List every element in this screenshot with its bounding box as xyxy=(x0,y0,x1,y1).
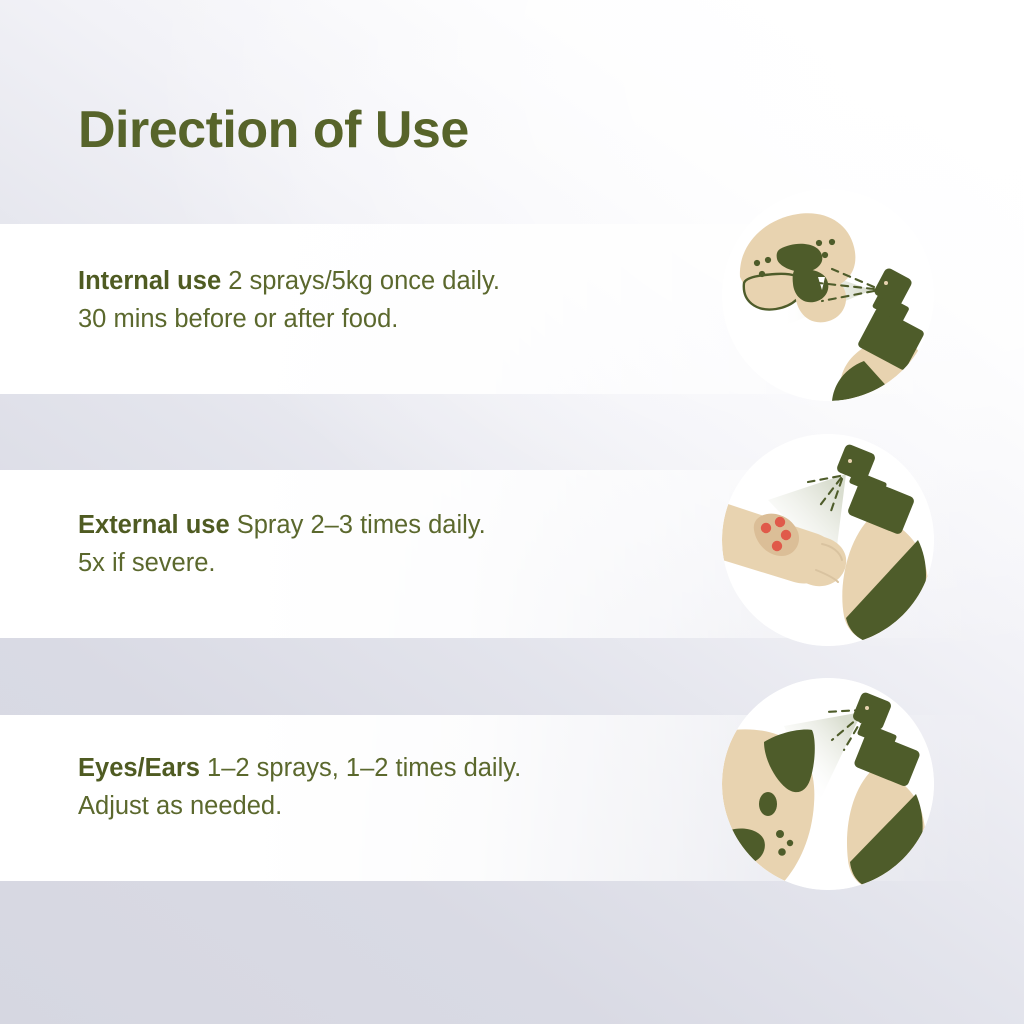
page-title: Direction of Use xyxy=(78,100,469,160)
instruction-line2-3: Adjust as needed. xyxy=(78,787,698,825)
instruction-lead-2: External use xyxy=(78,511,230,539)
instruction-line-3: Eyes/Ears 1–2 sprays, 1–2 times daily. xyxy=(78,749,698,787)
direction-of-use-poster: Direction of Use Internal use 2 sprays/5… xyxy=(0,0,1024,1024)
dog-muzzle-spray-icon xyxy=(722,189,934,401)
instruction-detail-3: 1–2 sprays, 1–2 times daily. xyxy=(200,754,521,782)
dog-head-spray-icon xyxy=(722,678,934,890)
instruction-detail-2: Spray 2–3 times daily. xyxy=(230,511,486,539)
instruction-text-3: Eyes/Ears 1–2 sprays, 1–2 times daily. A… xyxy=(78,749,698,825)
instruction-text-1: Internal use 2 sprays/5kg once daily. 30… xyxy=(78,262,698,338)
instruction-line-1: Internal use 2 sprays/5kg once daily. xyxy=(78,262,698,300)
instruction-line-2: External use Spray 2–3 times daily. xyxy=(78,506,698,544)
instruction-line2-2: 5x if severe. xyxy=(78,544,698,582)
instruction-text-2: External use Spray 2–3 times daily. 5x i… xyxy=(78,506,698,582)
instruction-detail-1: 2 sprays/5kg once daily. xyxy=(221,267,500,295)
instruction-lead-3: Eyes/Ears xyxy=(78,754,200,782)
instruction-line2-1: 30 mins before or after food. xyxy=(78,300,698,338)
instruction-lead-1: Internal use xyxy=(78,267,221,295)
arm-rash-spray-icon xyxy=(722,434,934,646)
